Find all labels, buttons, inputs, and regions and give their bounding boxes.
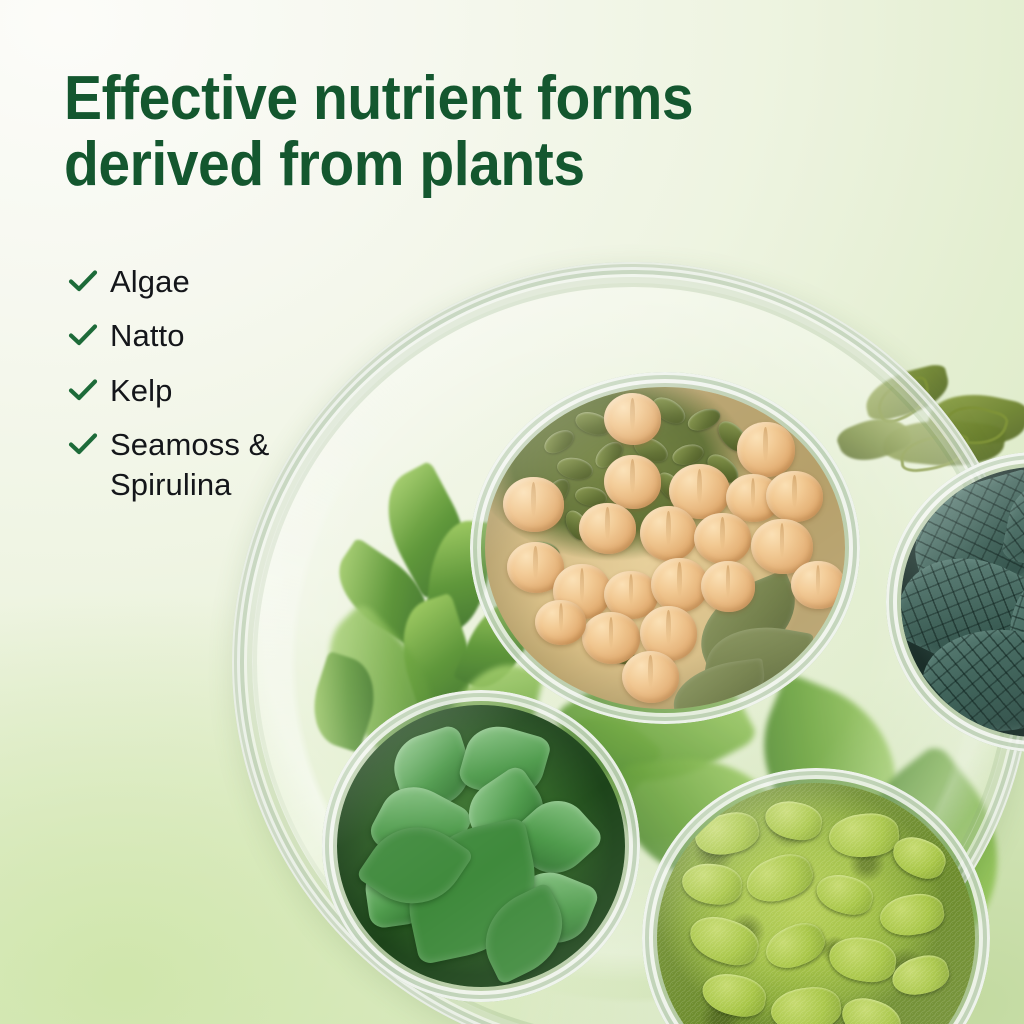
- graphic-canvas: Effective nutrient forms derived from pl…: [0, 0, 1024, 1024]
- check-icon: [66, 427, 100, 461]
- check-icon: [66, 373, 100, 407]
- list-item-label: Natto: [100, 316, 185, 356]
- list-item: Seamoss & Spirulina: [66, 425, 396, 506]
- list-item: Algae: [66, 262, 396, 302]
- benefits-checklist: Algae Natto Kelp: [66, 262, 396, 519]
- list-item-label: Algae: [100, 262, 190, 302]
- list-item-label: Seamoss & Spirulina: [100, 425, 396, 506]
- headline-line-2: derived from plants: [64, 132, 874, 198]
- page-title: Effective nutrient forms derived from pl…: [64, 66, 874, 197]
- headline-line-1: Effective nutrient forms: [64, 66, 874, 132]
- list-item-label: Kelp: [100, 371, 172, 411]
- text-overlay: Effective nutrient forms derived from pl…: [0, 0, 1024, 1024]
- check-icon: [66, 264, 100, 298]
- list-item: Natto: [66, 316, 396, 356]
- list-item: Kelp: [66, 371, 396, 411]
- check-icon: [66, 318, 100, 352]
